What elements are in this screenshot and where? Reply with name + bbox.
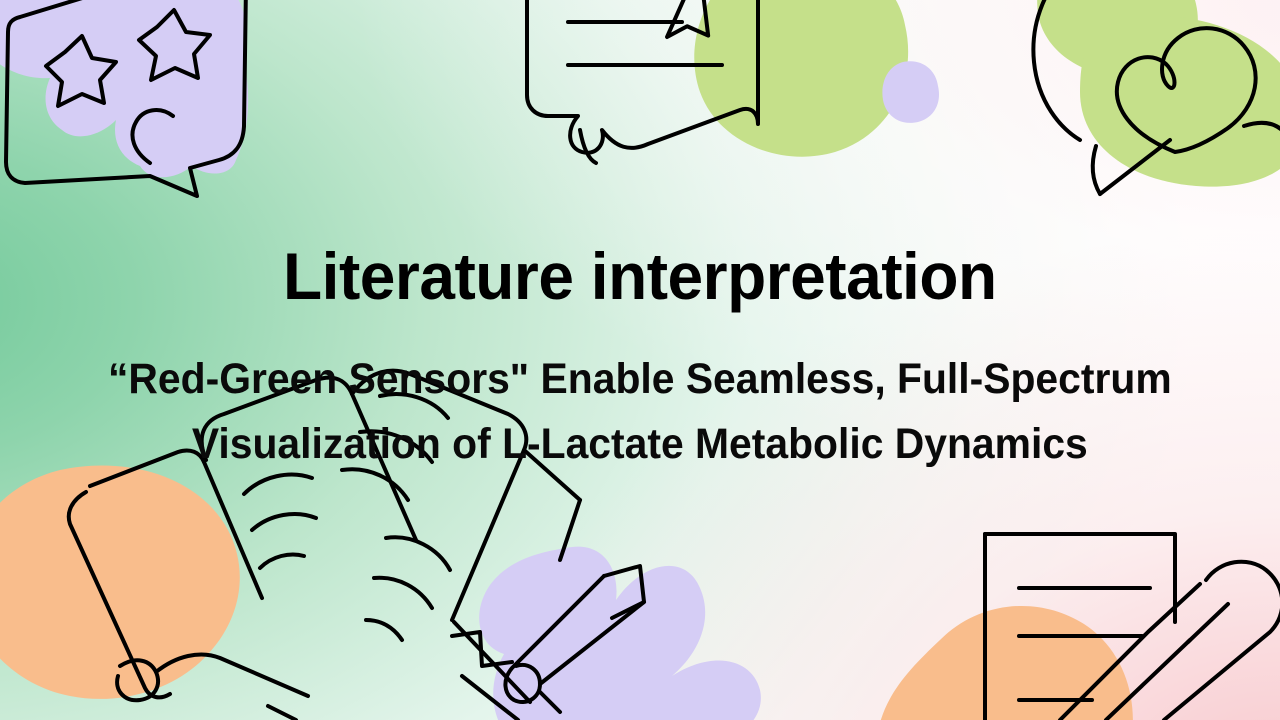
poster-text-block: Literature interpretation “Red-Green Sen… xyxy=(0,0,1280,720)
page-title: Literature interpretation xyxy=(283,243,997,309)
subtitle-line-1: “Red-Green Sensors" Enable Seamless, Ful… xyxy=(108,347,1172,412)
subtitle-line-2: Visualization of L-Lactate Metabolic Dyn… xyxy=(108,412,1172,477)
poster-canvas: Literature interpretation “Red-Green Sen… xyxy=(0,0,1280,720)
page-subtitle: “Red-Green Sensors" Enable Seamless, Ful… xyxy=(108,347,1172,478)
